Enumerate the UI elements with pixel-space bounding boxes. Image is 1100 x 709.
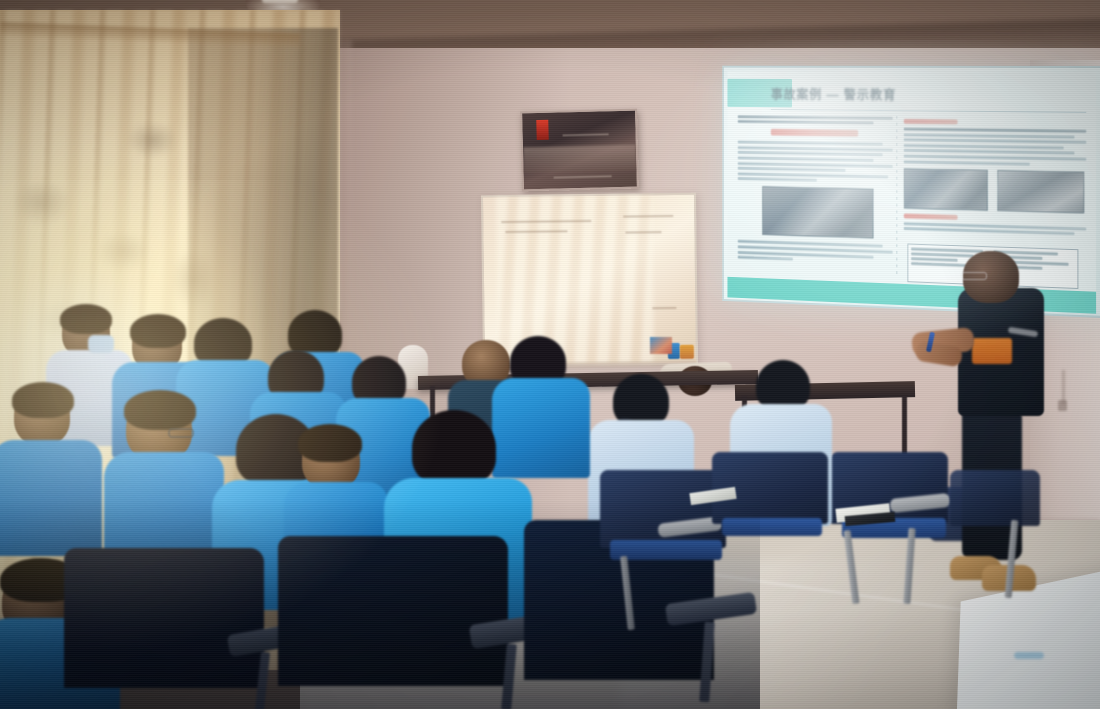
- orange-marker-icon: [680, 345, 694, 359]
- screen-frame: [722, 66, 1100, 318]
- presenter-armband: [972, 338, 1012, 364]
- framed-poster: [520, 109, 639, 192]
- small-wall-picture: [650, 337, 672, 354]
- glasses-icon: [961, 272, 987, 280]
- whiteboard-marking: [625, 231, 661, 233]
- glasses-icon: [168, 428, 194, 438]
- table-small-object: [1014, 652, 1044, 659]
- poster-detail: [563, 133, 609, 136]
- wall-cable: [1062, 370, 1065, 404]
- whiteboard-marking: [652, 307, 676, 309]
- wall-socket-icon: [1058, 400, 1067, 411]
- whiteboard-marking: [623, 215, 673, 218]
- poster-red-element: [536, 120, 548, 140]
- classroom-photo: 事故案例 — 警示教育: [0, 0, 1100, 709]
- poster-detail: [554, 175, 612, 178]
- poster-light-band: [523, 145, 637, 174]
- projection-screen: 事故案例 — 警示教育: [722, 66, 1100, 318]
- face-mask-icon: [88, 335, 114, 353]
